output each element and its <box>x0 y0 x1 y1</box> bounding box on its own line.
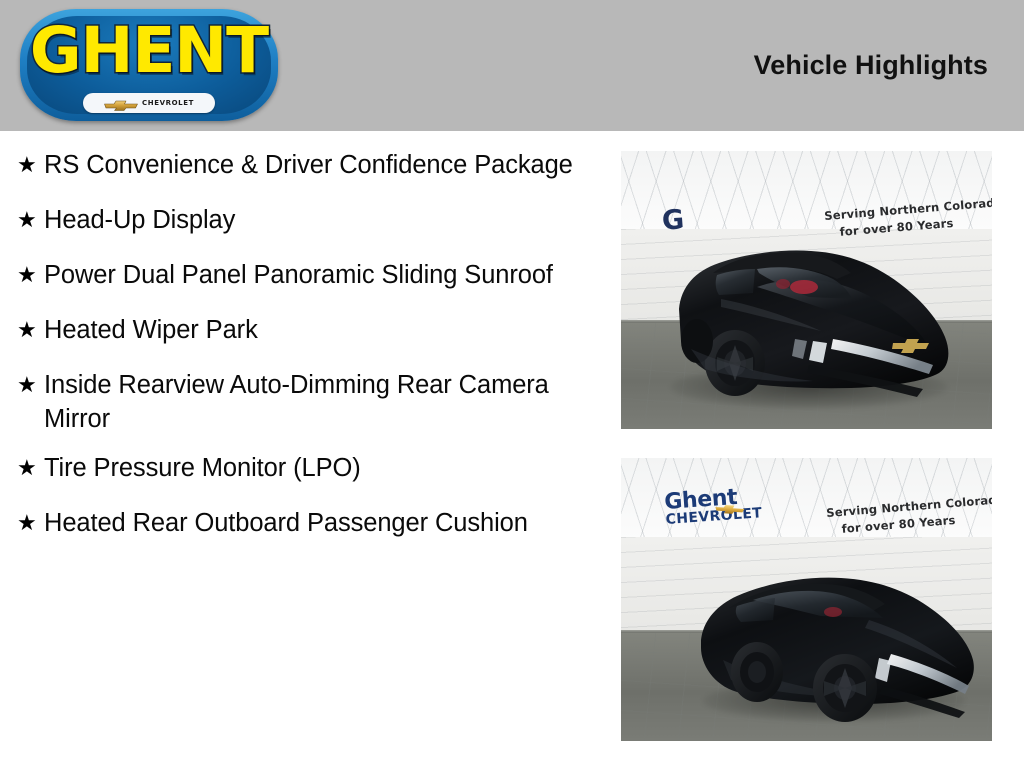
logo-wordmark: GHENT <box>20 15 278 87</box>
vehicle-image-blazer-ev-front <box>661 213 961 409</box>
logo-brand-label: CHEVROLET <box>142 99 194 108</box>
highlight-text: Tire Pressure Monitor (LPO) <box>44 451 361 485</box>
showroom-scene: Ghent CHEVROLET Serving Northern Colorad… <box>621 458 992 741</box>
star-bullet-icon: ★ <box>12 506 44 540</box>
chevrolet-bowtie-icon <box>715 500 746 513</box>
dealer-logo[interactable]: GHENT CHEVROLET <box>20 9 278 121</box>
vehicle-image-blazer-ev-side <box>693 536 983 722</box>
list-item: ★ RS Convenience & Driver Confidence Pac… <box>12 148 592 188</box>
star-bullet-icon: ★ <box>12 313 44 347</box>
vehicle-photo-front-three-quarter[interactable]: G Serving Northern Colorado for over 80 … <box>621 151 992 429</box>
vehicle-photo-side-three-quarter[interactable]: Ghent CHEVROLET Serving Northern Colorad… <box>621 458 992 741</box>
star-bullet-icon: ★ <box>12 368 44 402</box>
star-bullet-icon: ★ <box>12 203 44 237</box>
showroom-scene: G Serving Northern Colorado for over 80 … <box>621 151 992 429</box>
highlight-text: Head-Up Display <box>44 203 235 237</box>
list-item: ★ Head-Up Display <box>12 203 592 243</box>
highlight-text: Heated Rear Outboard Passenger Cushion <box>44 506 528 540</box>
page-header: GHENT CHEVROLET Vehicle Highlights <box>0 0 1024 131</box>
chevrolet-bowtie-icon <box>104 98 138 109</box>
page-title: Vehicle Highlights <box>754 50 988 81</box>
list-item: ★ Heated Wiper Park <box>12 313 592 353</box>
highlight-text: Heated Wiper Park <box>44 313 258 347</box>
logo-brand-pill: CHEVROLET <box>83 93 215 113</box>
list-item: ★ Heated Rear Outboard Passenger Cushion <box>12 506 592 546</box>
dealer-wall-sign: Ghent CHEVROLET <box>664 485 763 528</box>
list-item: ★ Power Dual Panel Panoramic Sliding Sun… <box>12 258 592 298</box>
highlight-text: RS Convenience & Driver Confidence Packa… <box>44 148 573 182</box>
star-bullet-icon: ★ <box>12 258 44 292</box>
star-bullet-icon: ★ <box>12 451 44 485</box>
list-item: ★ Inside Rearview Auto-Dimming Rear Came… <box>12 368 592 436</box>
highlight-text: Inside Rearview Auto-Dimming Rear Camera… <box>44 368 592 436</box>
star-bullet-icon: ★ <box>12 148 44 182</box>
vehicle-highlights-list: ★ RS Convenience & Driver Confidence Pac… <box>12 148 592 561</box>
highlight-text: Power Dual Panel Panoramic Sliding Sunro… <box>44 258 553 292</box>
list-item: ★ Tire Pressure Monitor (LPO) <box>12 451 592 491</box>
